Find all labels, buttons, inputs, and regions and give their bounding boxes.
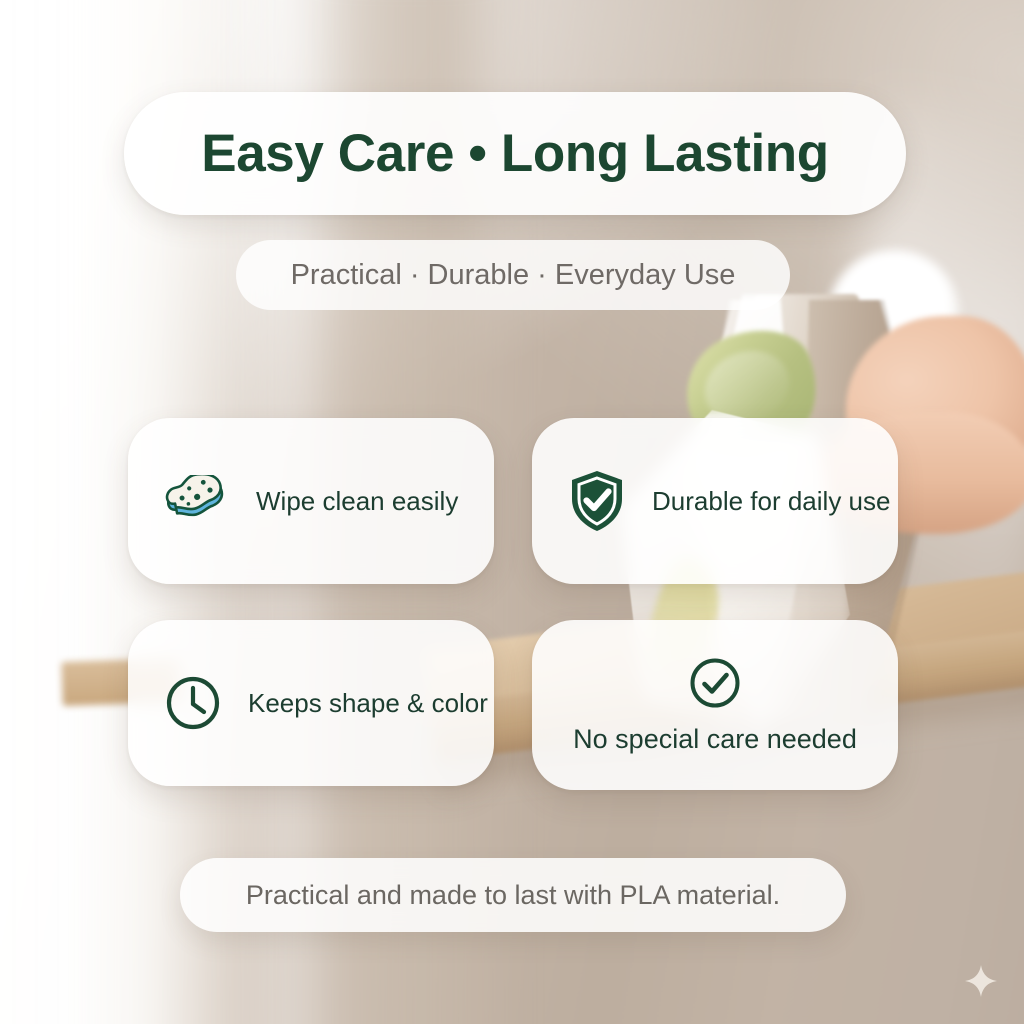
feature-label: Durable for daily use	[652, 486, 890, 517]
feature-card-keeps-shape[interactable]: Keeps shape & color	[128, 620, 494, 786]
feature-label: Wipe clean easily	[256, 486, 458, 517]
shield-check-icon	[568, 469, 626, 533]
subtitle-pill: Practical · Durable · Everyday Use	[236, 240, 790, 310]
clock-icon	[164, 674, 222, 732]
page-subtitle: Practical · Durable · Everyday Use	[291, 259, 736, 292]
infographic-canvas: Easy Care • Long Lasting Practical · Dur…	[0, 0, 1024, 1024]
feature-label: Keeps shape & color	[248, 688, 488, 719]
page-title: Easy Care • Long Lasting	[201, 123, 828, 184]
sponge-icon	[164, 475, 230, 527]
feature-card-durable[interactable]: Durable for daily use	[532, 418, 898, 584]
feature-label: No special care needed	[573, 724, 857, 755]
feature-card-wipe-clean[interactable]: Wipe clean easily	[128, 418, 494, 584]
title-pill: Easy Care • Long Lasting	[124, 92, 906, 215]
sparkle-icon	[964, 964, 998, 998]
feature-card-no-special-care[interactable]: No special care needed	[532, 620, 898, 790]
footer-pill: Practical and made to last with PLA mate…	[180, 858, 846, 932]
overlay-content: Easy Care • Long Lasting Practical · Dur…	[0, 0, 1024, 1024]
check-circle-icon	[688, 656, 742, 710]
footer-text: Practical and made to last with PLA mate…	[246, 880, 780, 911]
